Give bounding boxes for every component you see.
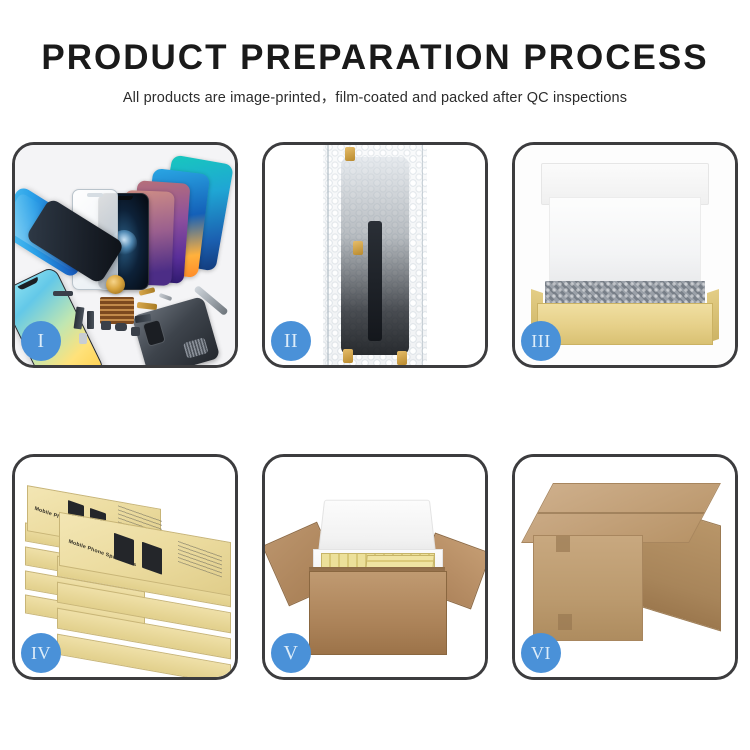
white-foam-sheet: [549, 197, 701, 285]
step-badge-3: III: [521, 321, 561, 361]
carton-tape-top: [556, 536, 570, 552]
carton-tape-bottom: [558, 614, 572, 630]
step-6-stage: VI: [515, 457, 735, 677]
spare-part-sim-tray: [79, 333, 87, 344]
process-steps-grid: I II: [12, 142, 738, 680]
box-window-right: [142, 542, 162, 575]
process-step-6: VI: [512, 454, 738, 680]
screen-flex-cable: [368, 221, 382, 341]
logic-board-chip: [100, 297, 134, 324]
open-box: [531, 163, 719, 337]
step-badge-2: II: [271, 321, 311, 361]
bag-seam-left: [327, 145, 329, 365]
spare-part-speaker: [115, 323, 127, 331]
open-shipping-carton: [287, 483, 467, 653]
step-badge-4: IV: [21, 633, 61, 673]
process-step-1: I: [12, 142, 238, 368]
step-badge-6: VI: [521, 633, 561, 673]
wireless-charging-coil: [183, 337, 209, 358]
gold-tab-middle: [353, 241, 363, 255]
step-3-stage: III: [515, 145, 735, 365]
step-2-stage: II: [265, 145, 485, 365]
glass-notch-cutout: [87, 193, 103, 197]
box-spec-lines: [178, 540, 222, 578]
product-preparation-page: PRODUCT PREPARATION PROCESS All products…: [0, 0, 750, 750]
spare-part-flex-cable: [87, 311, 94, 329]
spare-part-gold-flex: [137, 302, 158, 310]
gold-tab-top: [345, 147, 355, 161]
bubble-wrap-bag: [323, 145, 427, 365]
step-4-stage: Mobile Phone Spare Parts Mobile Pho: [15, 457, 235, 677]
carton-top-face: [521, 483, 721, 543]
page-title: PRODUCT PREPARATION PROCESS: [0, 36, 750, 80]
carton-top-seam: [537, 512, 704, 514]
carton-body: [309, 571, 447, 655]
bag-seam-right: [422, 145, 424, 365]
page-header: PRODUCT PREPARATION PROCESS All products…: [0, 36, 750, 108]
carton-front-face: [533, 535, 643, 641]
process-step-3: III: [512, 142, 738, 368]
spare-part-chip: [131, 327, 140, 336]
step-badge-5: V: [271, 633, 311, 673]
sealed-carton: [533, 483, 723, 649]
spare-part-bracket: [53, 291, 73, 296]
phone-notch: [18, 277, 40, 291]
page-subtitle: All products are image-printed，film-coat…: [0, 88, 750, 108]
spare-part-button: [101, 321, 111, 330]
process-step-5: V: [262, 454, 488, 680]
gold-tab-bottom-right: [397, 351, 407, 365]
camera-module: [142, 319, 166, 347]
gold-tab-bottom-left: [343, 349, 353, 363]
process-step-4: Mobile Phone Spare Parts Mobile Pho: [12, 454, 238, 680]
step-badge-1: I: [21, 321, 61, 361]
copper-coil-part: [106, 275, 125, 294]
spare-part-silver-clip: [159, 293, 173, 301]
box-front-panel: [537, 303, 713, 345]
step-1-stage: I: [15, 145, 235, 365]
process-step-2: II: [262, 142, 488, 368]
step-5-stage: V: [265, 457, 485, 677]
